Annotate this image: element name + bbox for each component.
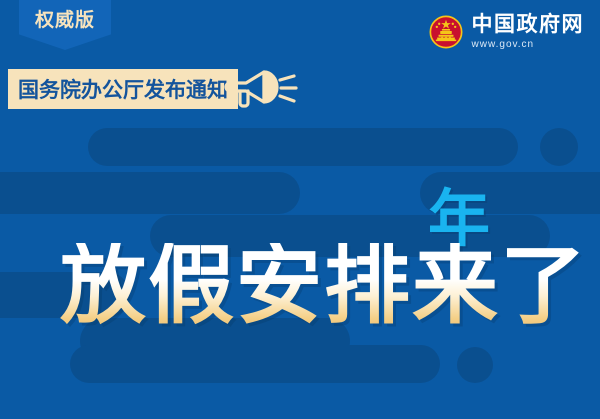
ribbon-label: 权威版	[35, 5, 95, 32]
background-bar	[0, 172, 300, 214]
background-dot	[540, 128, 578, 166]
authoritative-version-ribbon: 权威版	[19, 0, 111, 50]
gov-site-name: 中国政府网	[472, 14, 585, 35]
gov-site-url: www.gov.cn	[472, 40, 585, 50]
notice-text: 国务院办公厅发布通知	[18, 74, 228, 104]
notice-banner: 国务院办公厅发布通知	[8, 69, 238, 109]
china-national-emblem-icon	[429, 15, 463, 49]
background-dot	[457, 347, 493, 383]
holiday-schedule-poster: 权威版	[0, 0, 600, 419]
megaphone-icon	[224, 64, 298, 114]
background-decoration	[0, 0, 600, 419]
logo-text-block: 中国政府网 www.gov.cn	[472, 14, 585, 50]
background-bar	[70, 345, 440, 383]
page-title: 放假安排来了	[60, 243, 588, 329]
background-bar	[88, 128, 518, 166]
gov-logo[interactable]: 中国政府网 www.gov.cn	[429, 14, 585, 50]
